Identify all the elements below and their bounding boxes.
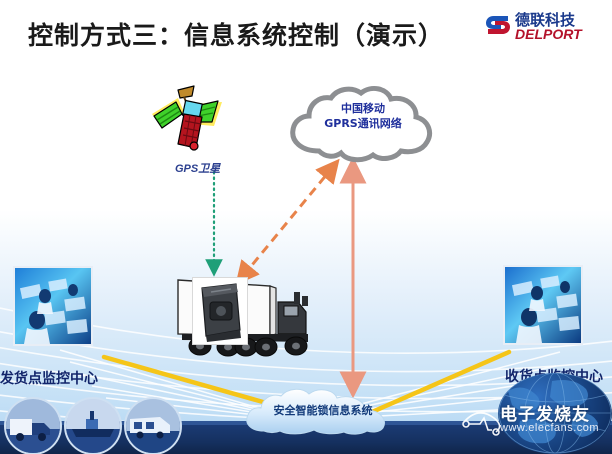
monitor-left-label: 发货点监控中心: [0, 368, 98, 388]
delport-logo: 德联科技 DELPORT: [484, 8, 604, 44]
gprs-label-line2: GPRS通讯网络: [283, 116, 443, 131]
gprs-label-line1: 中国移动: [283, 101, 443, 116]
watermark-url: www.elecfans.com: [500, 422, 599, 434]
delport-s-mark-icon: [484, 11, 512, 39]
truck-circle-icon: [4, 397, 62, 454]
system-cloud-label: 安全智能锁信息系统: [238, 402, 408, 418]
slide-canvas: 控制方式三：信息系统控制（演示） 德联科技 DELPORT: [0, 0, 612, 454]
ship-circle-icon: [64, 397, 122, 454]
logo-english-text: DELPORT: [515, 26, 582, 42]
satellite-label: GPS卫星: [175, 160, 220, 176]
smart-lock-device-icon: [192, 277, 248, 345]
monitor-left-photo: [13, 266, 93, 346]
gprs-cloud-label: 中国移动 GPRS通讯网络: [283, 101, 443, 131]
page-title: 控制方式三：信息系统控制（演示）: [28, 16, 444, 52]
satellite-icon: [148, 84, 226, 156]
train-circle-icon: [124, 397, 182, 454]
monitor-right-photo: [503, 265, 583, 345]
